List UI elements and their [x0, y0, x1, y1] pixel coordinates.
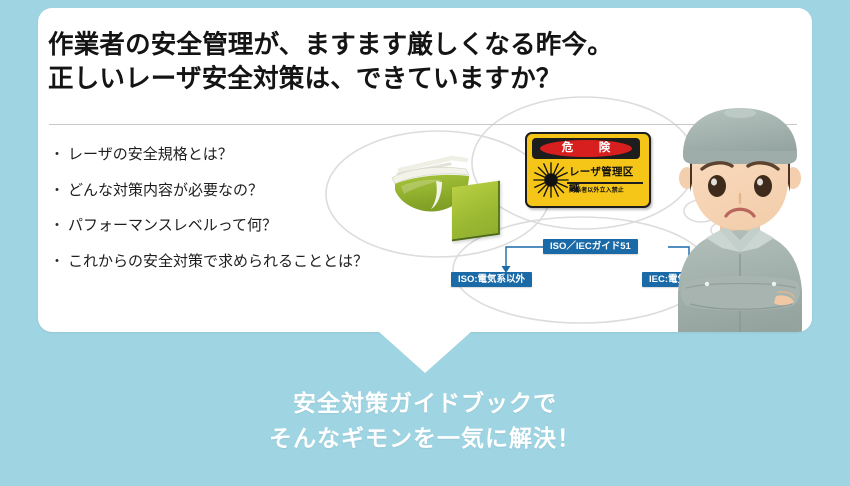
danger-label: 危 険 [540, 140, 632, 157]
sign-rule [567, 182, 643, 184]
worker-character-illustration [650, 106, 812, 332]
diagram-box-top: ISO／IECガイド51 [543, 239, 638, 254]
banner-line-1: 安全対策ガイドブックで [0, 386, 850, 421]
promo-banner-root: 作業者の安全管理が、ますます厳しくなる昨今。 正しいレーザ安全対策は、できていま… [0, 0, 850, 486]
bullet-dot-icon: ・ [50, 181, 68, 200]
list-item-label: これからの安全対策で求められることとは？ [68, 252, 480, 271]
banner-line-2: そんなギモンを一気に解決！ [0, 421, 850, 456]
laser-filter-panel [452, 181, 500, 242]
laser-burst-icon [533, 162, 569, 198]
laser-warning-sign: 危 険 レーザ管理区域 関係者以外立入禁止 [525, 132, 651, 208]
laser-safety-glasses-image [374, 148, 514, 243]
sign-header-bar: 危 険 [532, 138, 640, 159]
list-item: ・ これからの安全対策で求められることとは？ [50, 252, 480, 271]
page-title: 作業者の安全管理が、ますます厳しくなる昨今。 正しいレーザ安全対策は、できていま… [48, 28, 768, 96]
cta-banner: 安全対策ガイドブックで そんなギモンを一気に解決！ [0, 386, 850, 456]
bullet-dot-icon: ・ [50, 145, 68, 164]
bullet-dot-icon: ・ [50, 252, 68, 271]
heading-line-1: 作業者の安全管理が、ますます厳しくなる昨今。 [48, 28, 768, 62]
bullet-dot-icon: ・ [50, 216, 68, 235]
heading-line-2: 正しいレーザ安全対策は、できていますか？ [48, 62, 768, 96]
sign-main-label: レーザ管理区域 [569, 164, 643, 180]
content-card: 作業者の安全管理が、ますます厳しくなる昨今。 正しいレーザ安全対策は、できていま… [38, 8, 812, 332]
card-speech-tail [378, 331, 472, 373]
diagram-box-iso: ISO:電気系以外 [451, 272, 532, 287]
sign-sub-label: 関係者以外立入禁止 [569, 185, 645, 198]
